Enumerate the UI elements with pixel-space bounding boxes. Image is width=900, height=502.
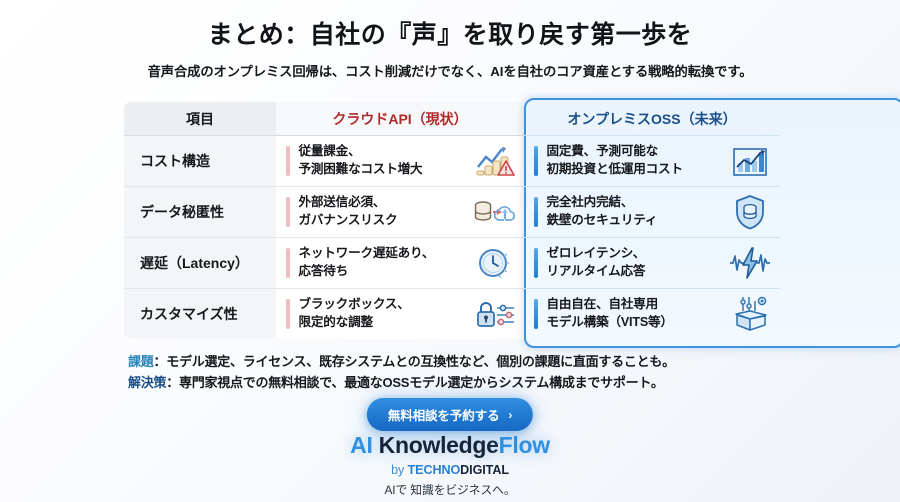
table-row: 遅延（Latency） ネットワーク遅延あり、応答待ち	[124, 238, 780, 289]
note-solution-sep: ：	[166, 375, 179, 390]
lock-sliders-icon	[472, 294, 516, 334]
cloud-cell-customization: ブラックボックス、限定的な調整	[276, 289, 524, 339]
row-label-privacy: データ秘匿性	[124, 187, 276, 238]
column-header-item: 項目	[124, 102, 276, 136]
cloud-text-latency: ネットワーク遅延あり、応答待ち	[299, 245, 469, 281]
note-solution: 解決策：専門家視点での無料相談で、最適なOSSモデル選定からシステム構成までサポ…	[128, 372, 675, 393]
table-row: データ秘匿性 外部送信必須、ガバナンスリスク	[124, 187, 780, 238]
oss-cell-privacy: 完全社内完結、鉄壁のセキュリティ	[524, 187, 780, 238]
note-issue-sep: ：	[154, 354, 167, 369]
accent-bar-red	[286, 248, 290, 278]
clock-waiting-icon	[472, 243, 516, 283]
comparison-table-wrapper: 項目 クラウドAPI（現状） オンプレミスOSS（未来） コスト構造 従量課金、…	[124, 102, 780, 339]
table-header-row: 項目 クラウドAPI（現状） オンプレミスOSS（未来）	[124, 102, 780, 136]
cloud-text-customization: ブラックボックス、限定的な調整	[299, 296, 469, 332]
cloud-cell-latency: ネットワーク遅延あり、応答待ち	[276, 238, 524, 289]
logo-ai: AI	[350, 432, 372, 458]
logo-flow: Flow	[499, 432, 550, 458]
accent-bar-red	[286, 146, 290, 176]
byline-prefix: by	[391, 463, 408, 477]
accent-bar-blue	[534, 197, 538, 227]
oss-text-latency: ゼロレイテンシ、リアルタイム応答	[547, 245, 725, 281]
accent-bar-blue	[534, 299, 538, 329]
row-label-latency: 遅延（Latency）	[124, 238, 276, 289]
note-issue-label: 課題	[128, 354, 154, 369]
brand-logo: AI KnowledgeFlow	[0, 432, 900, 459]
note-issue: 課題：モデル選定、ライセンス、既存システムとの互換性など、個別の課題に直面するこ…	[128, 351, 675, 372]
book-free-consultation-button[interactable]: 無料相談を予約する ›	[367, 398, 533, 431]
cloud-cell-privacy: 外部送信必須、ガバナンスリスク	[276, 187, 524, 238]
note-issue-text: モデル選定、ライセンス、既存システムとの互換性など、個別の課題に直面することも。	[166, 354, 675, 369]
cta-label: 無料相談を予約する	[388, 405, 500, 424]
row-label-customization: カスタマイズ性	[124, 289, 276, 339]
cloud-cell-cost: 従量課金、予測困難なコスト増大	[276, 136, 524, 187]
accent-bar-red	[286, 299, 290, 329]
bar-chart-growth-icon	[728, 141, 772, 181]
oss-cell-customization: 自由自在、自社専用モデル構築（VITS等）	[524, 289, 780, 339]
accent-bar-red	[286, 197, 290, 227]
oss-cell-cost: 固定費、予測可能な初期投資と低運用コスト	[524, 136, 780, 187]
oss-text-cost: 固定費、予測可能な初期投資と低運用コスト	[547, 143, 725, 179]
shield-database-icon	[728, 192, 772, 232]
column-header-cloud: クラウドAPI（現状）	[276, 102, 524, 136]
lightning-waveform-icon	[728, 243, 772, 283]
byline-digital: DIGITAL	[460, 463, 509, 477]
oss-text-privacy: 完全社内完結、鉄壁のセキュリティ	[547, 194, 725, 230]
oss-text-customization: 自由自在、自社専用モデル構築（VITS等）	[547, 296, 725, 332]
column-header-oss: オンプレミスOSS（未来）	[524, 102, 780, 136]
cloud-text-privacy: 外部送信必須、ガバナンスリスク	[299, 194, 469, 230]
database-upload-cloud-icon	[472, 192, 516, 232]
accent-bar-blue	[534, 248, 538, 278]
notes-block: 課題：モデル選定、ライセンス、既存システムとの互換性など、個別の課題に直面するこ…	[128, 351, 675, 393]
note-solution-label: 解決策	[128, 375, 166, 390]
logo-knowledge: Knowledge	[373, 432, 499, 458]
note-solution-text: 専門家視点での無料相談で、最適なOSSモデル選定からシステム構成までサポート。	[179, 375, 664, 390]
table-row: カスタマイズ性 ブラックボックス、限定的な調整	[124, 289, 780, 339]
open-box-settings-icon	[728, 294, 772, 334]
footer: AI KnowledgeFlow by TECHNODIGITAL AIで 知識…	[0, 432, 900, 498]
byline-techno: TECHNO	[408, 463, 461, 477]
tagline: AIで 知識をビジネスへ。	[0, 481, 900, 498]
comparison-table: 項目 クラウドAPI（現状） オンプレミスOSS（未来） コスト構造 従量課金、…	[124, 102, 780, 339]
cloud-text-cost: 従量課金、予測困難なコスト増大	[299, 143, 469, 179]
byline: by TECHNODIGITAL	[0, 463, 900, 477]
rising-cost-chart-coins-warning-icon	[472, 141, 516, 181]
page-title: まとめ：自社の『声』を取り戻す第一歩を	[0, 0, 900, 50]
page-subtitle: 音声合成のオンプレミス回帰は、コスト削減だけでなく、AIを自社のコア資産とする戦…	[0, 61, 900, 80]
oss-cell-latency: ゼロレイテンシ、リアルタイム応答	[524, 238, 780, 289]
accent-bar-blue	[534, 146, 538, 176]
chevron-right-icon: ›	[508, 408, 512, 422]
row-label-cost: コスト構造	[124, 136, 276, 187]
table-row: コスト構造 従量課金、予測困難なコスト増大	[124, 136, 780, 187]
